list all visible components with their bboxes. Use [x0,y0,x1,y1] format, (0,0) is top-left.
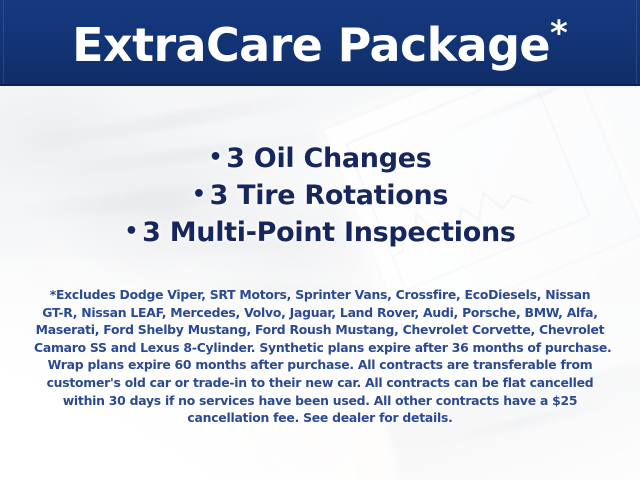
disclaimer-line: within 30 days if no services have been … [34,392,606,410]
disclaimer-text: *Excludes Dodge Viper, SRT Motors, Sprin… [34,286,606,427]
disclaimer-line: customer's old car or trade-in to their … [34,374,606,392]
page-title: ExtraCare Package* [0,17,640,73]
page-title-asterisk: * [550,14,568,54]
list-item: •3 Multi-Point Inspections [0,214,640,251]
list-item: •3 Tire Rotations [0,177,640,214]
bullet-dot-icon: • [124,219,138,244]
list-item-label: 3 Oil Changes [226,143,431,174]
list-item-label: 3 Tire Rotations [210,180,449,211]
disclaimer-line: cancellation fee. See dealer for details… [34,409,606,427]
bullet-dot-icon: • [208,145,222,170]
list-item-label: 3 Multi-Point Inspections [142,217,516,248]
page-title-text: ExtraCare Package [72,18,550,72]
disclaimer-line: *Excludes Dodge Viper, SRT Motors, Sprin… [34,286,606,304]
header-underline [0,84,640,88]
bullet-dot-icon: • [192,182,206,207]
disclaimer-line: Maserati, Ford Shelby Mustang, Ford Rous… [34,321,606,339]
disclaimer-line: Wrap plans expire 60 months after purcha… [34,356,606,374]
disclaimer-line: Camaro SS and Lexus 8-Cylinder. Syntheti… [34,339,606,357]
extracare-package-ad: ExtraCare Package* •3 Oil Changes •3 Tir… [0,0,640,480]
feature-list: •3 Oil Changes •3 Tire Rotations •3 Mult… [0,140,640,251]
disclaimer-line: GT-R, Nissan LEAF, Mercedes, Volvo, Jagu… [34,304,606,322]
list-item: •3 Oil Changes [0,140,640,177]
